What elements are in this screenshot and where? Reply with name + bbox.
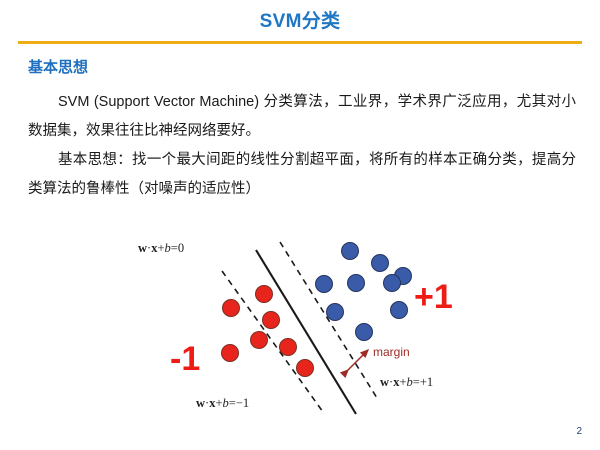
- margin-positive-label: w·x+b=+1: [380, 375, 433, 389]
- class-positive-label: +1: [414, 278, 453, 316]
- slide-canvas: SVM分类 基本思想 SVM (Support Vector Machine) …: [0, 0, 600, 450]
- page-number: 2: [576, 426, 582, 438]
- svm-margin-diagram: w·x+b=0 w·x+b=−1 w·x+b=+1 margin +1 -1: [118, 222, 538, 418]
- page-title: SVM分类: [0, 9, 600, 35]
- body-paragraph-1: SVM (Support Vector Machine) 分类算法，工业界，学术…: [28, 88, 576, 146]
- negative-class-points: [222, 286, 314, 377]
- margin-negative-label: w·x+b=−1: [196, 396, 249, 410]
- margin-line-positive: [280, 242, 377, 398]
- positive-class-points: [316, 243, 412, 341]
- margin-label: margin: [373, 345, 410, 359]
- class-negative-label: -1: [170, 340, 200, 378]
- hyperplane-label: w·x+b=0: [138, 241, 184, 255]
- title-divider: [18, 41, 582, 44]
- section-heading: 基本思想: [28, 57, 88, 79]
- body-paragraph-2: 基本思想：找一个最大间距的线性分割超平面，将所有的样本正确分类，提高分类算法的鲁…: [28, 146, 576, 204]
